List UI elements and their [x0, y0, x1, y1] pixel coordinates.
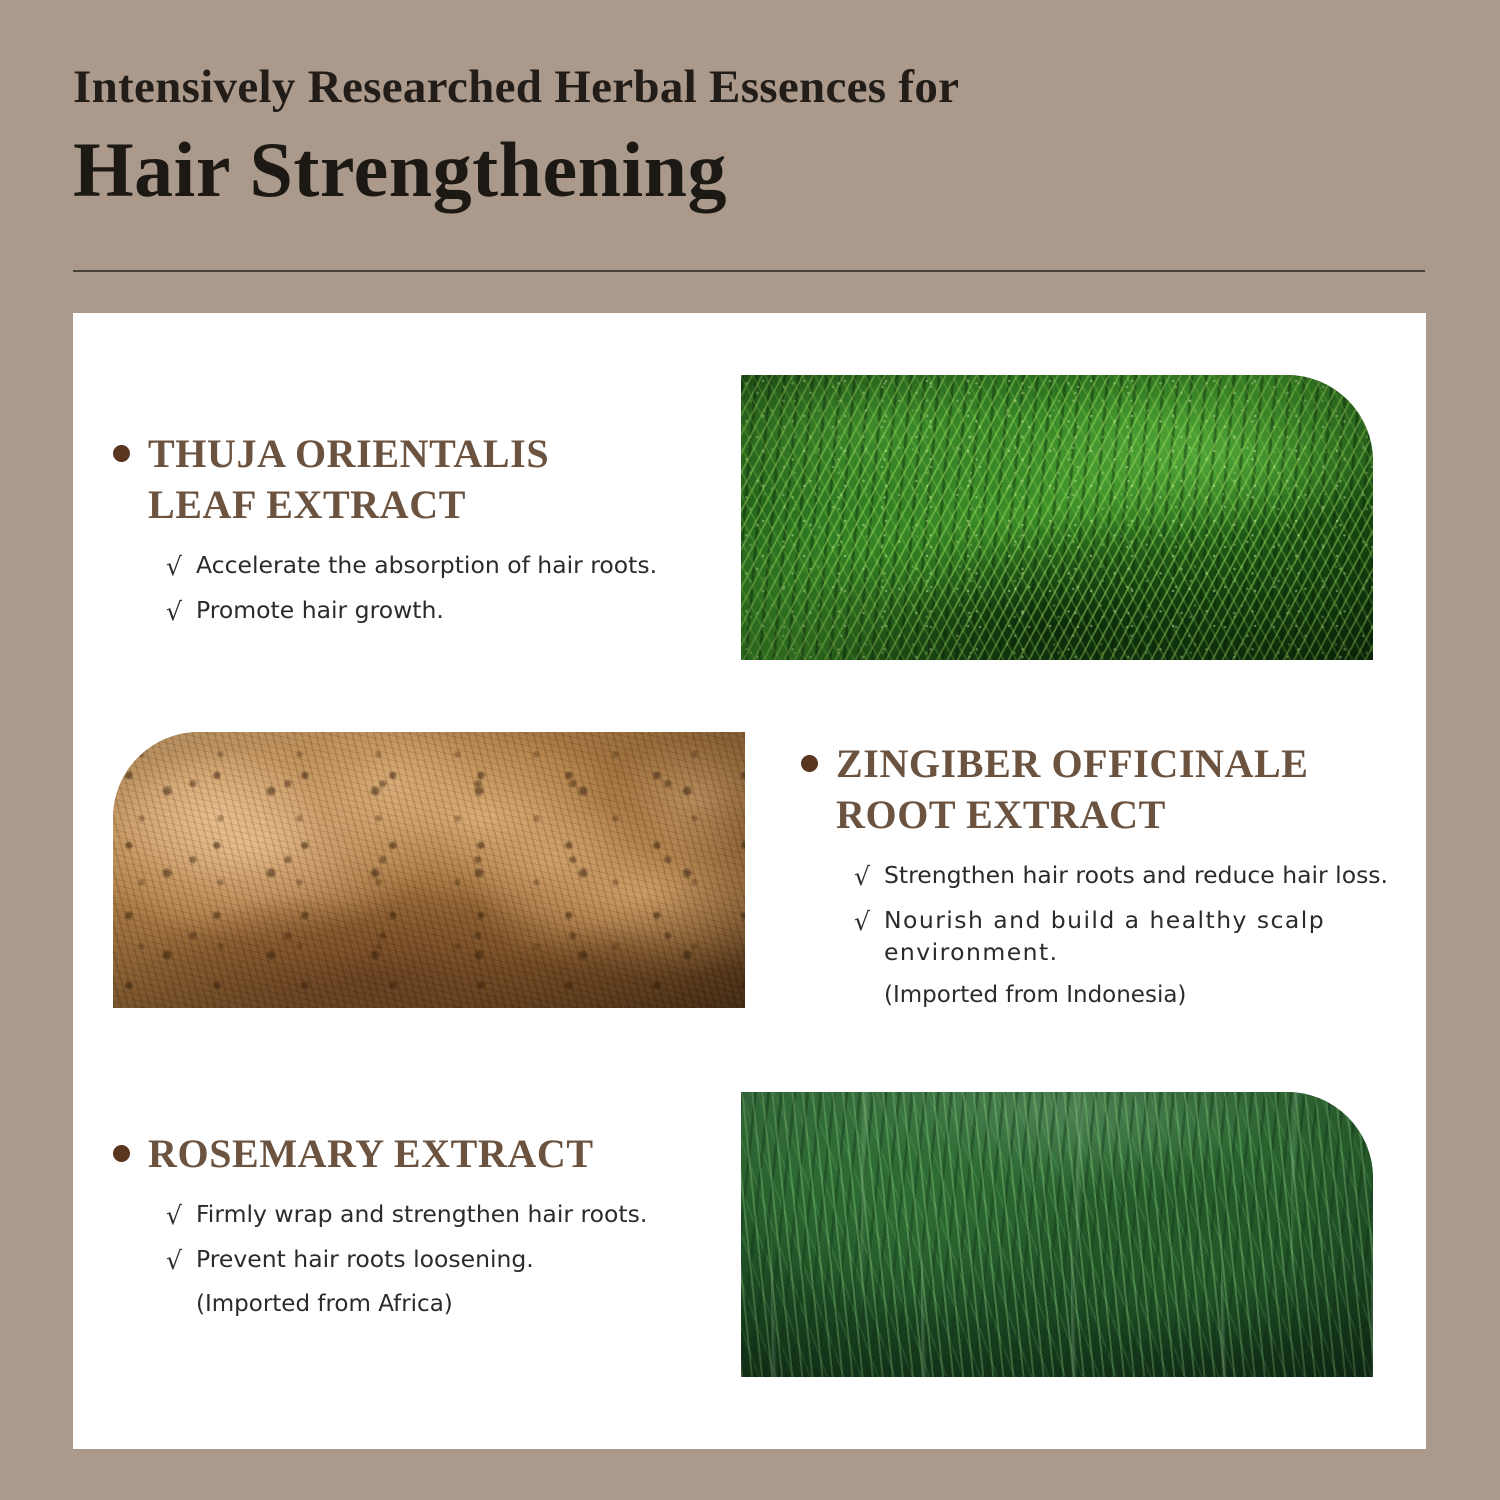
ingredient-title-row: THUJA ORIENTALIS LEAF EXTRACT — [113, 428, 703, 530]
check-icon: √ — [854, 860, 884, 894]
bullet-dot-icon — [801, 755, 818, 772]
ingredient-block-rosemary: ROSEMARY EXTRACT √ Firmly wrap and stren… — [113, 1128, 713, 1320]
ingredient-note: (Imported from Africa) — [166, 1289, 713, 1320]
ingredient-title: ROSEMARY EXTRACT — [148, 1128, 594, 1179]
ingredient-title-row: ZINGIBER OFFICINALE ROOT EXTRACT — [801, 738, 1401, 840]
benefit-text: Promote hair growth. — [196, 595, 444, 627]
ingredient-title: THUJA ORIENTALIS LEAF EXTRACT — [148, 428, 549, 530]
ingredient-title-row: ROSEMARY EXTRACT — [113, 1128, 713, 1179]
benefit-text: Prevent hair roots loosening. — [196, 1244, 534, 1276]
benefit-item: √ Promote hair growth. — [166, 595, 703, 629]
rosemary-photo — [741, 1092, 1373, 1377]
ingredient-title-line2: LEAF EXTRACT — [148, 482, 466, 527]
benefit-text: Accelerate the absorption of hair roots. — [196, 550, 657, 582]
ingredient-title: ZINGIBER OFFICINALE ROOT EXTRACT — [836, 738, 1309, 840]
benefit-item: √ Nourish and build a healthy scalp envi… — [854, 905, 1401, 968]
check-icon: √ — [854, 905, 884, 939]
ginger-photo — [113, 732, 745, 1008]
check-icon: √ — [166, 1244, 196, 1278]
bullet-dot-icon — [113, 1145, 130, 1162]
benefit-text: Strengthen hair roots and reduce hair lo… — [884, 860, 1388, 892]
ingredient-note: (Imported from Indonesia) — [854, 980, 1401, 1011]
benefit-text: Nourish and build a healthy scalp enviro… — [884, 905, 1354, 968]
benefit-item: √ Accelerate the absorption of hair root… — [166, 550, 703, 584]
ingredient-title-line1: ZINGIBER OFFICINALE — [836, 741, 1309, 786]
check-icon: √ — [166, 595, 196, 629]
ingredient-title-line2: ROOT EXTRACT — [836, 792, 1166, 837]
header-subtitle: Intensively Researched Herbal Essences f… — [73, 62, 1425, 114]
page-header: Intensively Researched Herbal Essences f… — [73, 62, 1425, 216]
bullet-dot-icon — [113, 445, 130, 462]
benefit-item: √ Firmly wrap and strengthen hair roots. — [166, 1199, 713, 1233]
check-icon: √ — [166, 1199, 196, 1233]
ingredient-points: √ Strengthen hair roots and reduce hair … — [801, 860, 1401, 1010]
benefit-item: √ Strengthen hair roots and reduce hair … — [854, 860, 1401, 894]
ingredient-title-line1: THUJA ORIENTALIS — [148, 431, 549, 476]
page-title: Hair Strengthening — [73, 124, 1425, 216]
check-icon: √ — [166, 550, 196, 584]
benefit-item: √ Prevent hair roots loosening. — [166, 1244, 713, 1278]
header-divider — [73, 270, 1425, 272]
benefit-text: Firmly wrap and strengthen hair roots. — [196, 1199, 647, 1231]
ingredient-points: √ Accelerate the absorption of hair root… — [113, 550, 703, 629]
ingredient-block-thuja: THUJA ORIENTALIS LEAF EXTRACT √ Accelera… — [113, 428, 703, 640]
content-card: THUJA ORIENTALIS LEAF EXTRACT √ Accelera… — [73, 313, 1426, 1449]
ingredient-points: √ Firmly wrap and strengthen hair roots.… — [113, 1199, 713, 1320]
ingredient-block-zingiber: ZINGIBER OFFICINALE ROOT EXTRACT √ Stren… — [801, 738, 1401, 1011]
thuja-photo — [741, 375, 1373, 660]
